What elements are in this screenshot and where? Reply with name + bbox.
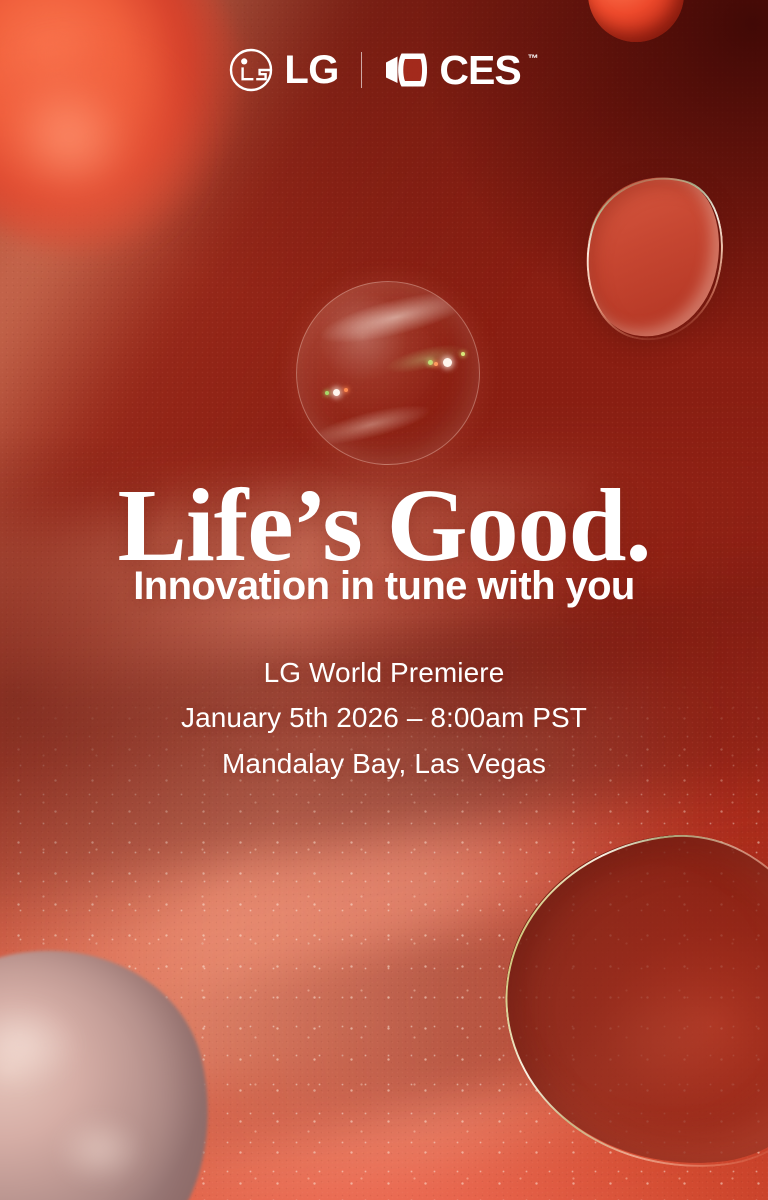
event-name: LG World Premiere (0, 650, 768, 695)
lg-ces-promo-poster: LG CES ™ Life’s Good. Innovation in tune… (0, 0, 768, 1200)
event-details: LG World Premiere January 5th 2026 – 8:0… (0, 650, 768, 786)
subtitle: Innovation in tune with you (0, 563, 768, 610)
event-venue: Mandalay Bay, Las Vegas (0, 741, 768, 786)
page-title: Life’s Good. (0, 474, 768, 578)
poster-content: Life’s Good. Innovation in tune with you… (0, 0, 768, 1200)
event-datetime: January 5th 2026 – 8:00am PST (0, 695, 768, 740)
